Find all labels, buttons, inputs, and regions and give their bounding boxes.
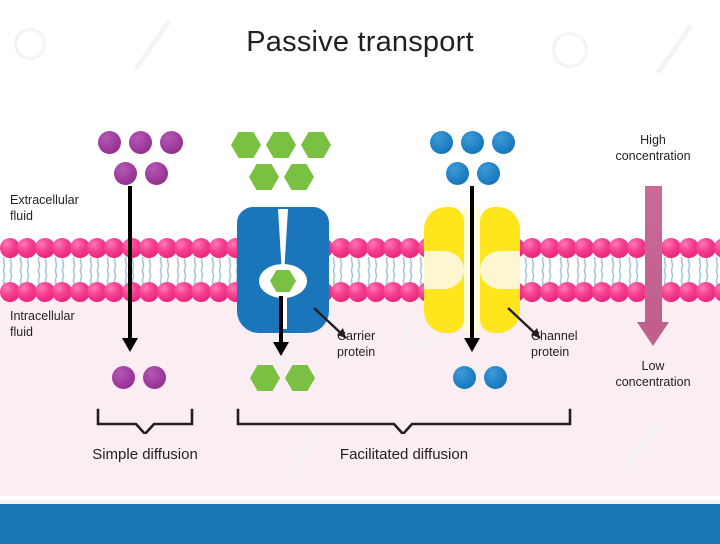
solute-blue bbox=[477, 162, 500, 185]
extracellular-fluid-label: Extracellular fluid bbox=[10, 193, 79, 224]
phospholipid-tail-pair bbox=[713, 257, 720, 279]
channel-diffusion-arrow-head bbox=[464, 338, 480, 352]
phospholipid-tail-pair bbox=[661, 257, 678, 279]
extracellular-fluid-label-line2: fluid bbox=[10, 209, 79, 225]
phospholipid-bilayer bbox=[0, 238, 720, 302]
low-concentration-label: Low concentration bbox=[583, 358, 720, 391]
phospholipid-tail-pair bbox=[574, 257, 591, 279]
phospholipid-tail-pair bbox=[348, 257, 365, 279]
solute-blue bbox=[430, 131, 453, 154]
diagram-canvas: Passive transport Extracellular fluid In… bbox=[0, 0, 720, 544]
carrier-protein-label-line2: protein bbox=[337, 345, 375, 361]
channel-protein-label-line1: Channel bbox=[531, 329, 578, 345]
phospholipid-tail-pair bbox=[365, 257, 382, 279]
facilitated-diffusion-label: Facilitated diffusion bbox=[314, 446, 494, 463]
solute-blue bbox=[446, 162, 469, 185]
solute-blue bbox=[492, 131, 515, 154]
solute-purple bbox=[160, 131, 183, 154]
phospholipid-tail-pair bbox=[209, 257, 226, 279]
channel-diffusion-arrow-shaft bbox=[470, 186, 474, 340]
phospholipid-head bbox=[714, 238, 720, 258]
phospholipid-tail-pair bbox=[87, 257, 104, 279]
phospholipid-tail-pair bbox=[17, 257, 34, 279]
phospholipid-tail-pair bbox=[400, 257, 417, 279]
simple-diffusion-arrow-head bbox=[122, 338, 138, 352]
high-concentration-line2: concentration bbox=[583, 148, 720, 164]
solute-purple bbox=[98, 131, 121, 154]
extracellular-fluid-label-line1: Extracellular bbox=[10, 193, 79, 209]
phospholipid-tail-pair bbox=[678, 257, 695, 279]
phospholipid-tail-pair bbox=[104, 257, 121, 279]
solute-blue bbox=[484, 366, 507, 389]
footer-bar: dreamstime.com ID 289168555 © PHHY bbox=[0, 504, 720, 544]
simple-diffusion-label: Simple diffusion bbox=[55, 446, 235, 463]
solute-blue bbox=[453, 366, 476, 389]
carrier-diffusion-arrow-head bbox=[273, 342, 289, 356]
phospholipid-tail-pair bbox=[35, 257, 52, 279]
concentration-gradient-arrow-head bbox=[637, 322, 669, 346]
channel-protein-label-line2: protein bbox=[531, 345, 578, 361]
phospholipid-tail-pair bbox=[696, 257, 713, 279]
solute-purple bbox=[114, 162, 137, 185]
low-concentration-line2: concentration bbox=[583, 374, 720, 390]
channel-protein-waist-right bbox=[480, 251, 520, 289]
facilitated-diffusion-bracket bbox=[236, 408, 572, 434]
bilayer-heads-lower bbox=[0, 282, 720, 302]
channel-protein-waist-left bbox=[424, 251, 464, 289]
concentration-gradient-arrow-shaft bbox=[645, 186, 662, 324]
phospholipid-tail-pair bbox=[191, 257, 208, 279]
phospholipid-tail-pair bbox=[626, 257, 643, 279]
phospholipid-tail-pair bbox=[539, 257, 556, 279]
high-concentration-line1: High bbox=[583, 132, 720, 148]
phospholipid-tail-pair bbox=[70, 257, 87, 279]
solute-purple bbox=[145, 162, 168, 185]
phospholipid-tail-pair bbox=[557, 257, 574, 279]
high-concentration-label: High concentration bbox=[583, 132, 720, 165]
solute-purple bbox=[129, 131, 152, 154]
phospholipid-tail-pair bbox=[522, 257, 539, 279]
intracellular-fluid-label: Intracellular fluid bbox=[10, 309, 75, 340]
phospholipid-tail-pair bbox=[330, 257, 347, 279]
phospholipid-tail-pair bbox=[383, 257, 400, 279]
solute-purple bbox=[112, 366, 135, 389]
carrier-diffusion-arrow-shaft bbox=[279, 296, 283, 344]
channel-protein-label: Channel protein bbox=[531, 329, 578, 360]
phospholipid-tail-pair bbox=[139, 257, 156, 279]
intracellular-fluid-label-line2: fluid bbox=[10, 325, 75, 341]
carrier-protein-label-line1: Carrier bbox=[337, 329, 375, 345]
phospholipid-tail-pair bbox=[157, 257, 174, 279]
carrier-protein-label: Carrier protein bbox=[337, 329, 375, 360]
intracellular-fluid-label-line1: Intracellular bbox=[10, 309, 75, 325]
low-concentration-line1: Low bbox=[583, 358, 720, 374]
simple-diffusion-bracket bbox=[96, 408, 194, 434]
phospholipid-tail-pair bbox=[174, 257, 191, 279]
bilayer-heads-upper bbox=[0, 238, 720, 258]
solute-purple bbox=[143, 366, 166, 389]
phospholipid-tail-pair bbox=[52, 257, 69, 279]
phospholipid-tail-pair bbox=[0, 257, 17, 279]
solute-blue bbox=[461, 131, 484, 154]
phospholipid-tail-pair bbox=[609, 257, 626, 279]
simple-diffusion-arrow-shaft bbox=[128, 186, 132, 340]
diagram-title: Passive transport bbox=[0, 26, 720, 59]
bilayer-tails-upper bbox=[0, 257, 720, 279]
phospholipid-head bbox=[714, 282, 720, 302]
phospholipid-tail-pair bbox=[591, 257, 608, 279]
